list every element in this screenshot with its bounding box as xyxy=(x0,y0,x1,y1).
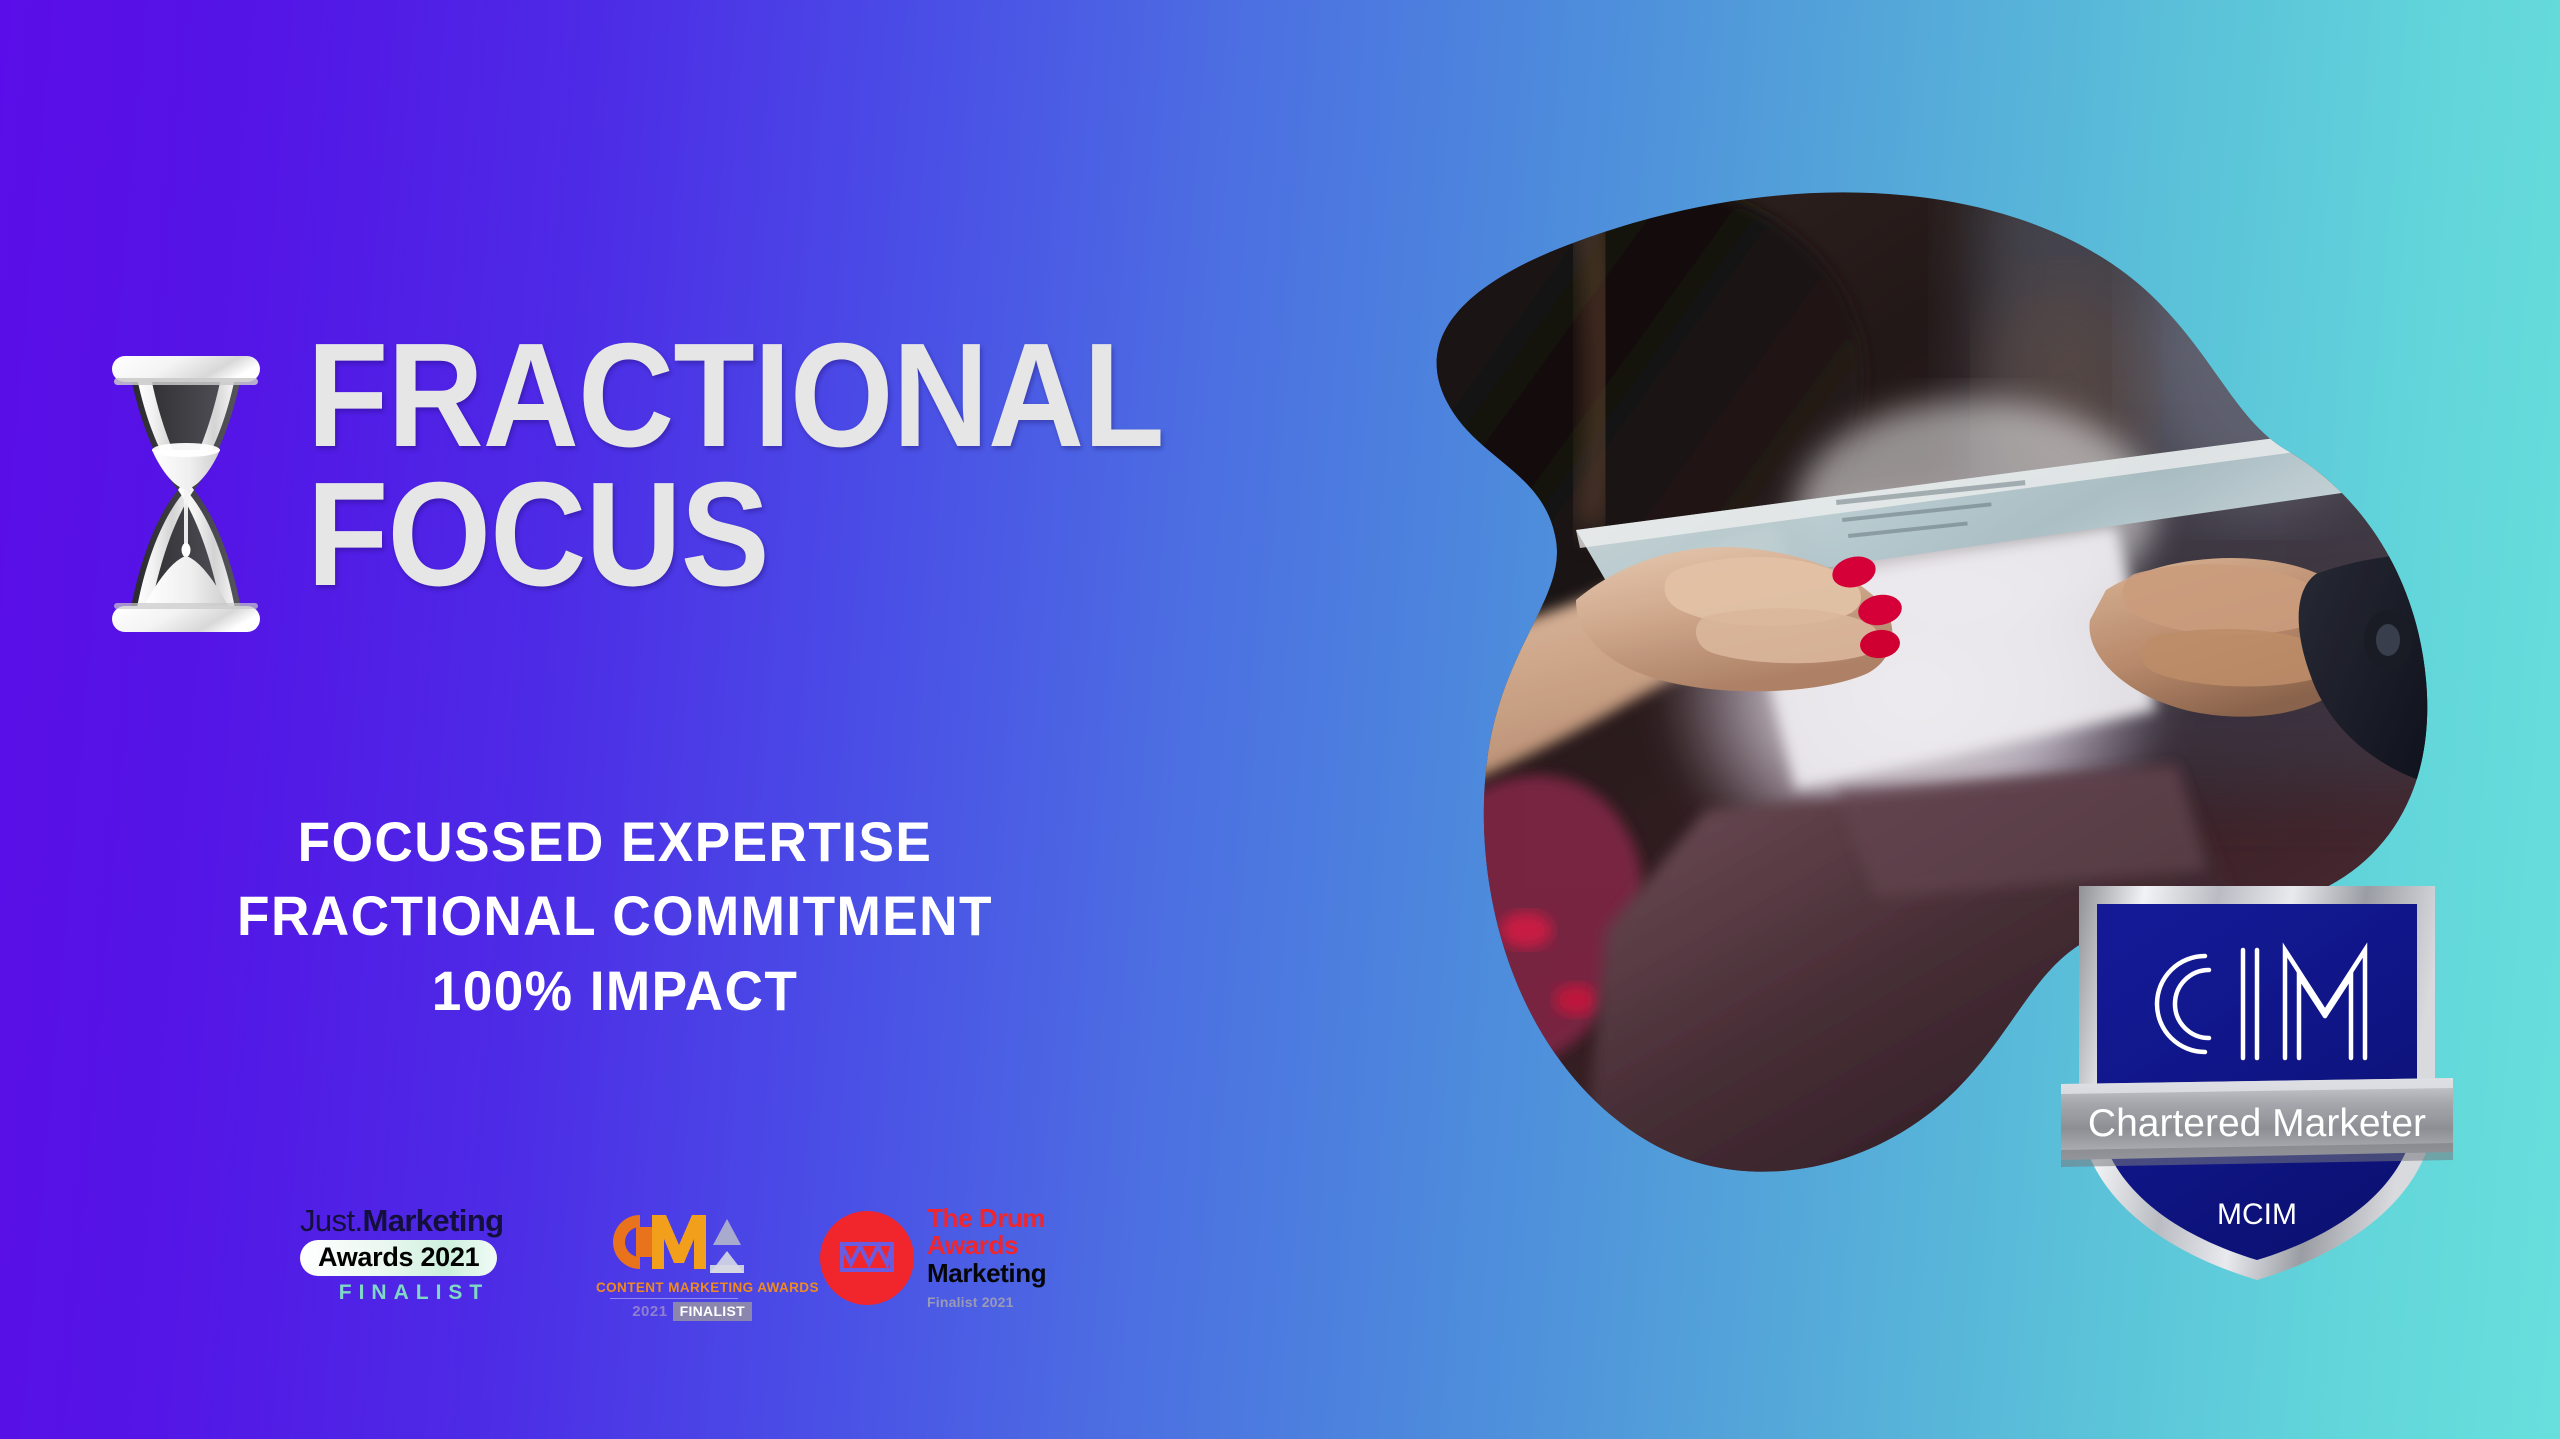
cim-chartered-marketer-badge: Chartered Marketer MCIM xyxy=(2057,872,2457,1292)
cma-status: FINALIST xyxy=(673,1302,752,1321)
cma-year: 2021 xyxy=(632,1303,667,1320)
title-line-2: FOCUS xyxy=(307,465,1252,604)
tagline-line-2: FRACTIONAL COMMITMENT xyxy=(31,879,1200,953)
cma-footer: 2021 FINALIST xyxy=(596,1302,752,1321)
just-marketing-status: FINALIST xyxy=(300,1281,528,1305)
cim-ribbon-text: Chartered Marketer xyxy=(2088,1102,2426,1145)
cma-logo-icon xyxy=(596,1205,752,1279)
cim-designation-text: MCIM xyxy=(2217,1198,2297,1231)
badge-content-marketing-awards: CONTENT MARKETING AWARDS 2021 FINALIST xyxy=(596,1205,752,1321)
drum-text-block: The Drum Awards Marketing Finalist 2021 xyxy=(927,1205,1046,1310)
drum-line-2: Awards xyxy=(927,1232,1046,1259)
drum-line-1: The Drum xyxy=(927,1205,1046,1232)
just-marketing-bold: Marketing xyxy=(362,1203,503,1238)
hourglass-icon xyxy=(100,338,272,650)
tagline-line-1: FOCUSSED EXPERTISE xyxy=(31,805,1200,879)
award-badge-row: Just.Marketing Awards 2021 FINALIST xyxy=(300,1205,1046,1321)
title-line-1: FRACTIONAL xyxy=(307,326,1252,465)
badge-just-marketing: Just.Marketing Awards 2021 FINALIST xyxy=(300,1205,528,1305)
just-marketing-pill: Awards 2021 xyxy=(300,1240,497,1276)
page-title: FRACTIONAL FOCUS xyxy=(307,326,1357,604)
marketing-banner: FRACTIONAL FOCUS FOCUSSED EXPERTISE FRAC… xyxy=(0,0,2560,1439)
just-marketing-wordmark: Just.Marketing xyxy=(300,1205,528,1236)
cma-subtitle: CONTENT MARKETING AWARDS xyxy=(596,1280,752,1295)
tagline: FOCUSSED EXPERTISE FRACTIONAL COMMITMENT… xyxy=(0,805,1230,1028)
tagline-line-3: 100% IMPACT xyxy=(31,954,1200,1028)
drum-category: Marketing xyxy=(927,1259,1046,1289)
just-marketing-light: Just. xyxy=(300,1203,362,1238)
drum-status: Finalist 2021 xyxy=(927,1294,1046,1310)
cma-divider xyxy=(610,1298,738,1299)
badge-drum-awards: The Drum Awards Marketing Finalist 2021 xyxy=(820,1205,1046,1310)
drum-icon xyxy=(820,1211,914,1305)
